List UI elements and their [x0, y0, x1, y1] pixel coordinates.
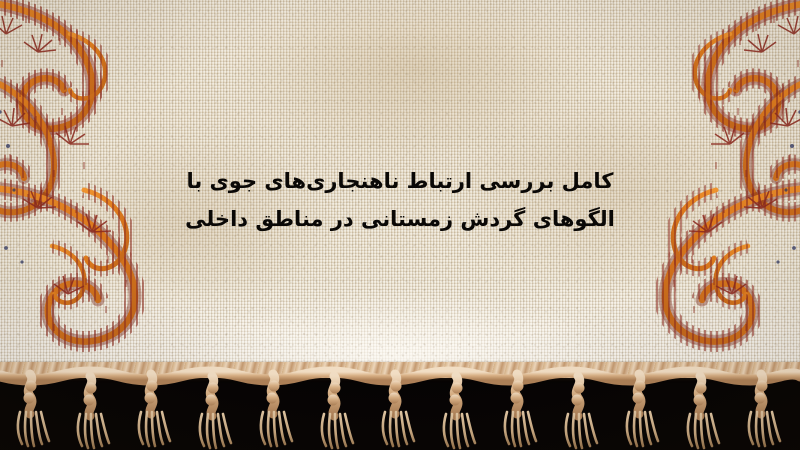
- linen-fabric-panel: [0, 0, 800, 375]
- braided-cord-edge: [0, 362, 800, 378]
- title-card-canvas: کامل بررسی ارتباط ناهنجاری‌های جوی با ال…: [0, 0, 800, 450]
- black-backdrop: [0, 374, 800, 450]
